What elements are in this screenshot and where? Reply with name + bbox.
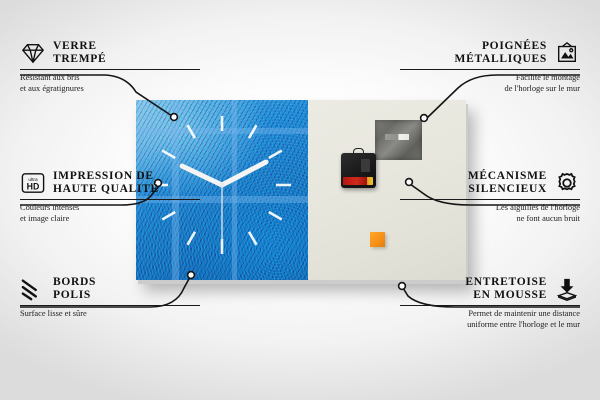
- diamond-icon: [20, 41, 46, 65]
- callout-subtitle: Résistant aux bris et aux égratignures: [20, 73, 200, 94]
- svg-text:HD: HD: [27, 181, 40, 191]
- callout-rule: [400, 199, 580, 200]
- callout-subtitle: Facilite le montage de l'horloge sur le …: [400, 73, 580, 94]
- callout-bords-polis[interactable]: BORDS POLIS Surface lisse et sûre: [20, 276, 200, 320]
- callout-rule: [400, 305, 580, 306]
- gear-icon: [554, 171, 580, 195]
- callout-impression-haute-qualite[interactable]: ultra HD IMPRESSION DE HAUTE QUALITÉ Cou…: [20, 170, 200, 224]
- callout-subtitle: Permet de maintenir une distance uniform…: [400, 309, 580, 330]
- callout-rule: [400, 69, 580, 70]
- hanger-slot: [385, 134, 409, 140]
- callout-mecanisme-silencieux[interactable]: MÉCANISME SILENCIEUX Les aiguilles de l'…: [400, 170, 580, 224]
- callout-subtitle: Les aiguilles de l'horloge ne font aucun…: [400, 203, 580, 224]
- callout-rule: [20, 305, 200, 306]
- callout-title: BORDS POLIS: [53, 276, 96, 302]
- picture-hanger-icon: [554, 41, 580, 65]
- foam-spacer-part: [370, 232, 385, 247]
- callout-title: MÉCANISME SILENCIEUX: [468, 170, 547, 196]
- clock-mechanism-part: [341, 153, 376, 188]
- polished-edges-icon: [20, 277, 46, 301]
- callout-rule: [20, 69, 200, 70]
- callout-rule: [20, 199, 200, 200]
- ultra-hd-icon: ultra HD: [20, 171, 46, 195]
- battery-part: [343, 177, 373, 185]
- callout-title: POIGNÉES MÉTALLIQUES: [455, 40, 547, 66]
- callout-poignees-metalliques[interactable]: POIGNÉES MÉTALLIQUES Facilite le montage…: [400, 40, 580, 94]
- hanger-plate-part: [375, 120, 422, 160]
- callout-title: ENTRETOISE EN MOUSSE: [465, 276, 547, 302]
- mechanism-detail: [361, 159, 370, 172]
- infographic-canvas: VERRE TREMPÉ Résistant aux bris et aux é…: [0, 0, 600, 400]
- callout-title: IMPRESSION DE HAUTE QUALITÉ: [53, 170, 159, 196]
- foam-spacer-icon: [554, 277, 580, 301]
- callout-title: VERRE TREMPÉ: [53, 40, 106, 66]
- callout-subtitle: Surface lisse et sûre: [20, 309, 200, 320]
- mechanism-hook: [353, 148, 364, 155]
- callout-verre-trempe[interactable]: VERRE TREMPÉ Résistant aux bris et aux é…: [20, 40, 200, 94]
- callout-subtitle: Couleurs intenses et image claire: [20, 203, 200, 224]
- callout-entretoise-en-mousse[interactable]: ENTRETOISE EN MOUSSE Permet de maintenir…: [400, 276, 580, 330]
